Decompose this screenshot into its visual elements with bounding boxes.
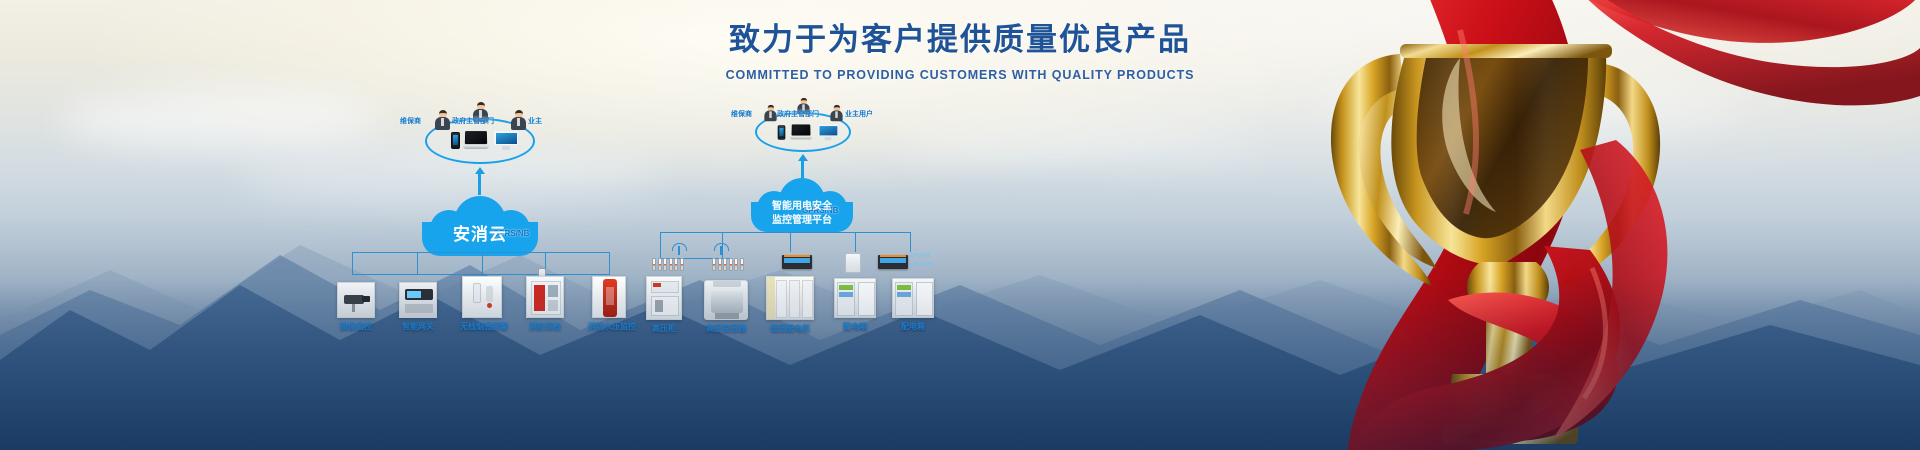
left-cloud: 安消云 bbox=[420, 196, 540, 256]
right-user-label-1: 政府主管部门 bbox=[777, 109, 819, 119]
right-bus-drop bbox=[790, 232, 791, 252]
laptop-device-icon bbox=[463, 131, 489, 149]
monitor-module bbox=[878, 255, 908, 269]
device-thumbnail bbox=[526, 276, 564, 318]
laptop-device-icon bbox=[790, 124, 812, 139]
person-icon bbox=[764, 105, 776, 121]
breaker-strip bbox=[712, 258, 744, 271]
phone-device-icon bbox=[451, 132, 460, 149]
right-device-caption-0: 高压柜 bbox=[642, 323, 686, 334]
left-device-caption-4: 消防水压监控 bbox=[588, 321, 630, 332]
left-device-4: 消防水压监控 bbox=[588, 276, 630, 332]
phone-device-icon bbox=[778, 125, 786, 139]
device-thumbnail bbox=[892, 278, 934, 318]
right-cloud-label-line2: 监控管理平台 bbox=[749, 211, 855, 226]
device-thumbnail bbox=[592, 276, 626, 318]
transformer-symbol bbox=[672, 243, 686, 255]
left-bus-drop bbox=[417, 252, 418, 274]
left-user-label-1: 政府主管部门 bbox=[452, 116, 494, 126]
left-bus-line bbox=[352, 252, 610, 253]
breaker-strip bbox=[652, 258, 684, 271]
left-device-0: 摄像监控 bbox=[336, 282, 376, 332]
monitor-device-icon bbox=[493, 130, 519, 150]
right-device-1: 高压变压器 bbox=[700, 280, 752, 334]
device-thumbnail bbox=[834, 278, 876, 318]
left-device-caption-3: 消防巡检 bbox=[524, 321, 566, 332]
right-cloud-label-line1: 智能用电安全 bbox=[749, 197, 855, 212]
right-bus-drop bbox=[910, 232, 911, 252]
left-device-2: 无线烟感报警 bbox=[460, 276, 504, 332]
person-icon bbox=[435, 110, 450, 130]
left-bus-drop bbox=[609, 252, 610, 274]
right-bus-line bbox=[660, 232, 910, 233]
left-user-ring: 维保商 政府主管部门 业主 bbox=[425, 118, 535, 164]
left-cloud-label: 安消云 bbox=[420, 220, 540, 245]
right-device-caption-2: 低压配电柜 bbox=[764, 323, 816, 334]
right-user-label-2: 业主用户 bbox=[845, 109, 873, 119]
trophy-decoration bbox=[1160, 0, 1920, 450]
right-module-label-0: LPSW-R bbox=[910, 253, 931, 259]
left-device-caption-0: 摄像监控 bbox=[336, 321, 376, 332]
left-device-3: 消防巡检 bbox=[524, 276, 566, 332]
right-device-4: 配电箱 bbox=[890, 278, 936, 332]
monitor-module bbox=[782, 255, 812, 269]
right-uplink-arrow bbox=[801, 160, 804, 178]
monitor-device-icon bbox=[817, 124, 839, 141]
meter-module bbox=[845, 253, 861, 273]
right-device-caption-1: 高压变压器 bbox=[700, 323, 752, 334]
right-bus-drop bbox=[855, 232, 856, 252]
left-bus-drop bbox=[482, 252, 483, 274]
left-bus-line bbox=[352, 274, 610, 275]
device-thumbnail bbox=[399, 282, 437, 318]
hero-banner: 致力于为客户提供质量优良产品 COMMITTED TO PROVIDING CU… bbox=[0, 0, 1920, 450]
left-device-1: 智能网关 bbox=[398, 282, 438, 332]
left-user-label-2: 业主 bbox=[528, 116, 542, 126]
person-icon bbox=[830, 105, 842, 121]
right-user-label-0: 维保商 bbox=[731, 109, 752, 119]
right-cloud: 智能用电安全 监控管理平台 bbox=[749, 178, 855, 232]
right-device-caption-4: 配电箱 bbox=[890, 321, 936, 332]
device-thumbnail bbox=[704, 280, 748, 320]
person-icon bbox=[511, 110, 526, 130]
right-device-0: 高压柜 bbox=[642, 276, 686, 334]
transformer-symbol bbox=[714, 243, 728, 255]
left-uplink-arrow bbox=[478, 173, 481, 195]
left-user-label-0: 维保商 bbox=[400, 116, 421, 126]
left-device-caption-1: 智能网关 bbox=[398, 321, 438, 332]
right-module-label-1: LPSW-M bbox=[910, 262, 932, 268]
device-thumbnail bbox=[462, 276, 502, 318]
device-thumbnail bbox=[766, 276, 814, 320]
device-thumbnail bbox=[337, 282, 375, 318]
right-device-2: 低压配电柜 bbox=[764, 276, 816, 334]
left-bus-drop bbox=[352, 252, 353, 274]
left-device-caption-2: 无线烟感报警 bbox=[460, 321, 504, 332]
right-device-3: 配电箱 bbox=[832, 278, 878, 332]
right-user-ring: 维保商 政府主管部门 业主用户 bbox=[755, 112, 851, 152]
device-thumbnail bbox=[646, 276, 682, 320]
right-bus-drop bbox=[660, 232, 661, 258]
right-device-caption-3: 配电箱 bbox=[832, 321, 878, 332]
